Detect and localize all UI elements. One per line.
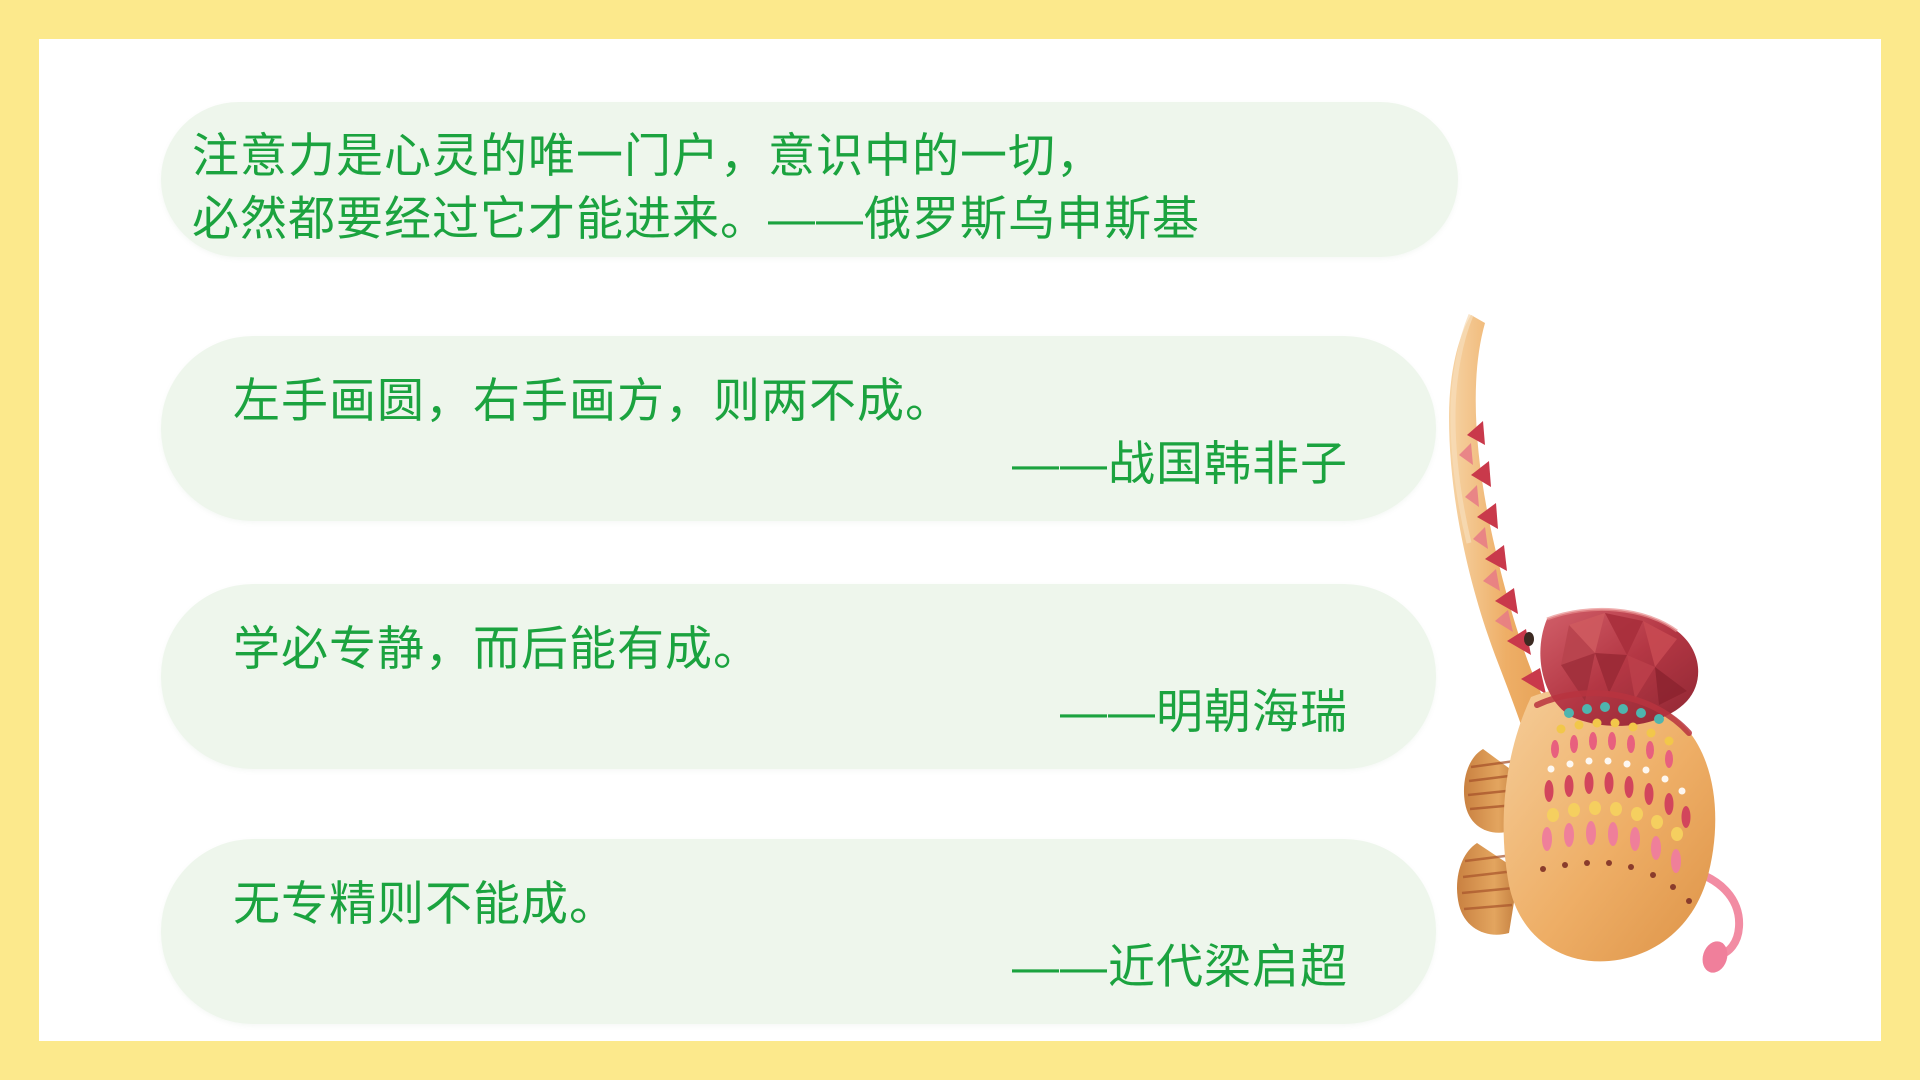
quote-3-line-1: 学必专静，而后能有成。 — [233, 617, 1348, 680]
quote-card-4: 无专精则不能成。 ——近代梁启超 — [161, 839, 1436, 1024]
elephant-hind-leg-icon — [1457, 843, 1519, 935]
quote-2-attribution: ——战国韩非子 — [233, 432, 1348, 495]
elephant-ear-icon — [1540, 609, 1698, 725]
quote-card-3-body: 学必专静，而后能有成。 ——明朝海瑞 — [233, 617, 1348, 743]
elephant-trunk-icon — [1449, 315, 1577, 779]
quote-1-line-1: 注意力是心灵的唯一门户，意识中的一切， — [192, 124, 1200, 187]
quote-card-1-body: 注意力是心灵的唯一门户，意识中的一切， 必然都要经过它才能进来。——俄罗斯乌申斯… — [192, 124, 1200, 250]
quote-card-4-body: 无专精则不能成。 ——近代梁启超 — [233, 872, 1348, 998]
elephant-blanket-icon — [1540, 702, 1692, 904]
quote-4-line-1: 无专精则不能成。 — [233, 872, 1348, 935]
elephant-body-icon — [1504, 687, 1716, 961]
quote-card-2: 左手画圆，右手画方，则两不成。 ——战国韩非子 — [161, 336, 1436, 521]
elephant-eye-icon — [1524, 632, 1534, 646]
quote-1-line-2: 必然都要经过它才能进来。——俄罗斯乌申斯基 — [192, 187, 1200, 250]
elephant-illustration-icon — [1419, 309, 1779, 1029]
elephant-front-leg-icon — [1464, 749, 1521, 833]
quote-card-1: 注意力是心灵的唯一门户，意识中的一切， 必然都要经过它才能进来。——俄罗斯乌申斯… — [161, 102, 1458, 257]
quote-2-line-1: 左手画圆，右手画方，则两不成。 — [233, 369, 1348, 432]
quote-card-3: 学必专静，而后能有成。 ——明朝海瑞 — [161, 584, 1436, 769]
quote-4-attribution: ——近代梁启超 — [233, 935, 1348, 998]
elephant-saddle-strap-icon — [1537, 693, 1689, 733]
elephant-tail-icon — [1681, 869, 1739, 976]
slide-canvas: 注意力是心灵的唯一门户，意识中的一切， 必然都要经过它才能进来。——俄罗斯乌申斯… — [39, 39, 1881, 1041]
quote-3-attribution: ——明朝海瑞 — [233, 680, 1348, 743]
quote-card-2-body: 左手画圆，右手画方，则两不成。 ——战国韩非子 — [233, 369, 1348, 495]
slide-root: 注意力是心灵的唯一门户，意识中的一切， 必然都要经过它才能进来。——俄罗斯乌申斯… — [0, 0, 1920, 1080]
